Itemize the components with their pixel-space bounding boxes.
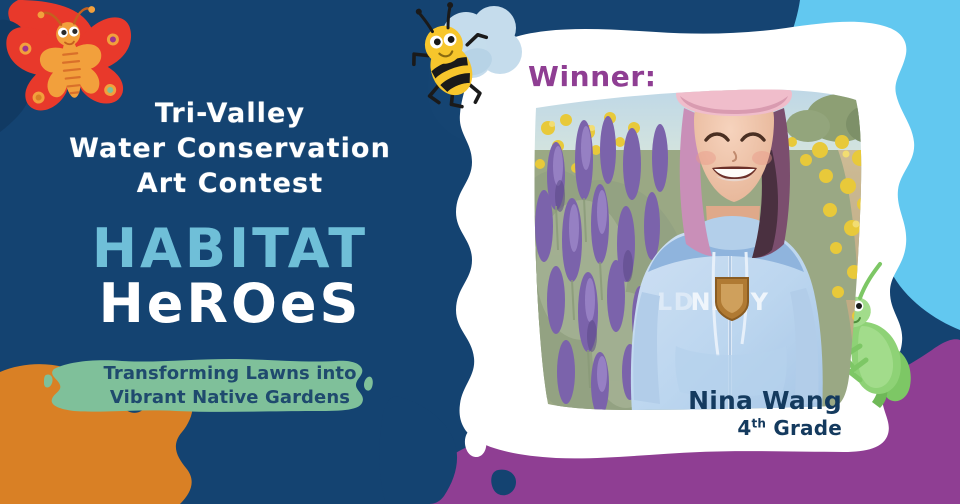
winner-name: Nina Wang xyxy=(688,388,842,414)
svg-text:LD: LD xyxy=(657,288,695,316)
winner-label: Winner: xyxy=(528,60,657,93)
winner-credit: Nina Wang 4th Grade xyxy=(688,388,842,440)
winner-grade-number: 4 xyxy=(737,416,751,440)
winner-grade-word: Grade xyxy=(773,416,842,440)
winner-grade: 4th Grade xyxy=(688,416,842,440)
winner-grade-suffix: th xyxy=(751,417,766,431)
art-contest-winner-poster: NAVY LD xyxy=(0,0,960,504)
